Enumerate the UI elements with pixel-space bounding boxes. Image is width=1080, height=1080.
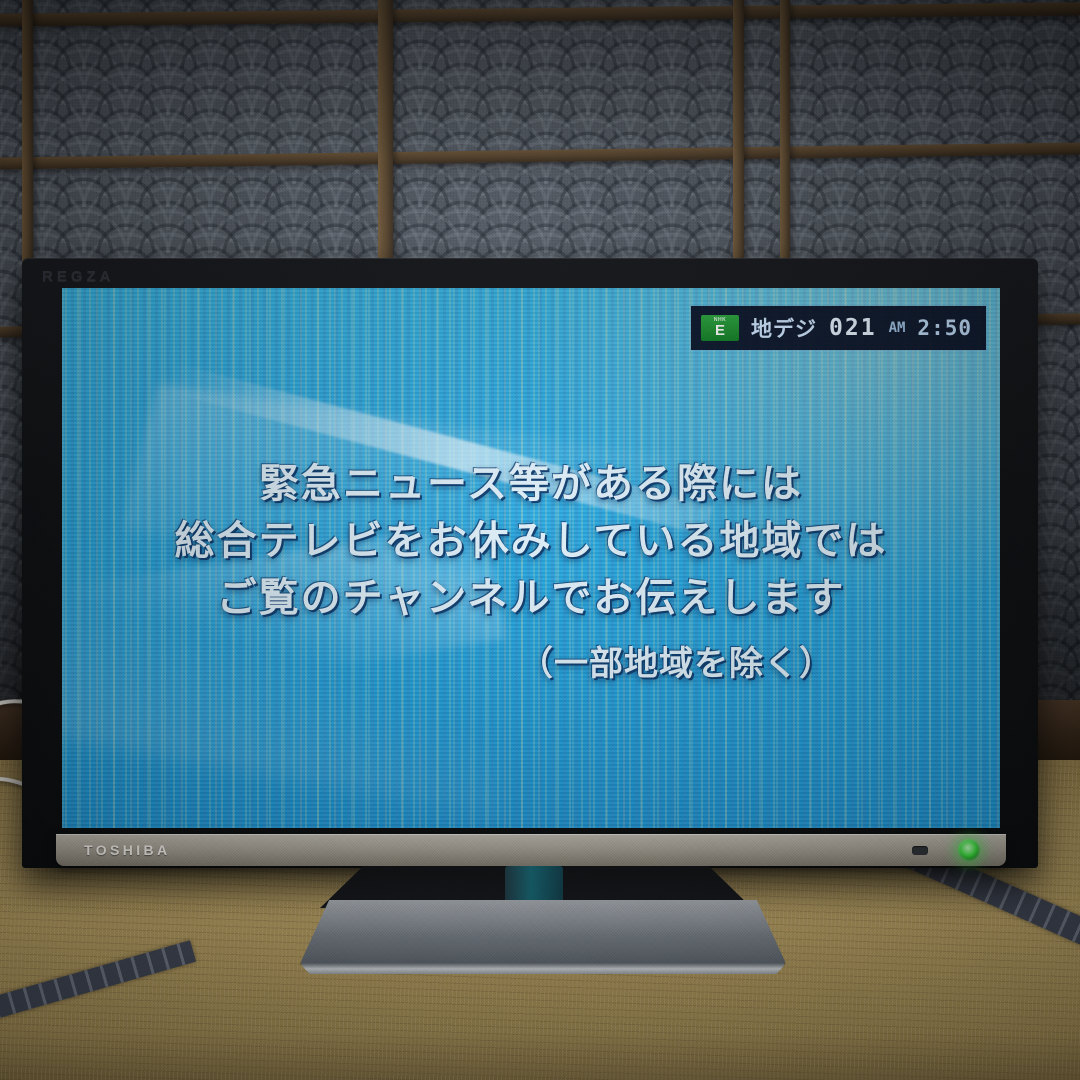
regza-logo: REGZA	[42, 268, 115, 285]
osd-channel-number: 021	[829, 315, 877, 341]
message-line-2: 総合テレビをお休みしている地域では	[62, 513, 1000, 570]
photo-scene: REGZA NHK E 地デジ 021 AM 2:50	[0, 0, 1080, 1080]
tv-stand-base-sheen	[300, 900, 786, 974]
ir-receiver-icon	[912, 846, 928, 855]
tv-screen: NHK E 地デジ 021 AM 2:50 緊急ニュース等がある際には 総合テレ…	[62, 288, 1000, 828]
osd-channel-banner: NHK E 地デジ 021 AM 2:50	[691, 306, 986, 350]
nhk-e-station-logo: NHK E	[701, 315, 739, 341]
toshiba-logo: TOSHIBA	[84, 842, 171, 858]
osd-clock-time: 2:50	[917, 316, 972, 340]
broadcast-message: 緊急ニュース等がある際には 総合テレビをお休みしている地域では ご覧のチャンネル…	[62, 456, 1000, 685]
message-note: （一部地域を除く）	[62, 636, 1000, 685]
osd-meridiem: AM	[889, 320, 906, 336]
tv-stand-base	[300, 900, 786, 974]
tv-chin-panel: TOSHIBA	[56, 834, 1006, 866]
television: REGZA NHK E 地デジ 021 AM 2:50	[22, 258, 1038, 868]
osd-band-label: 地デジ	[751, 313, 817, 343]
message-line-3: ご覧のチャンネルでお伝えします	[62, 570, 1000, 627]
station-logo-letter: E	[715, 323, 725, 338]
power-led-indicator	[958, 839, 980, 861]
message-line-1: 緊急ニュース等がある際には	[62, 456, 1000, 513]
